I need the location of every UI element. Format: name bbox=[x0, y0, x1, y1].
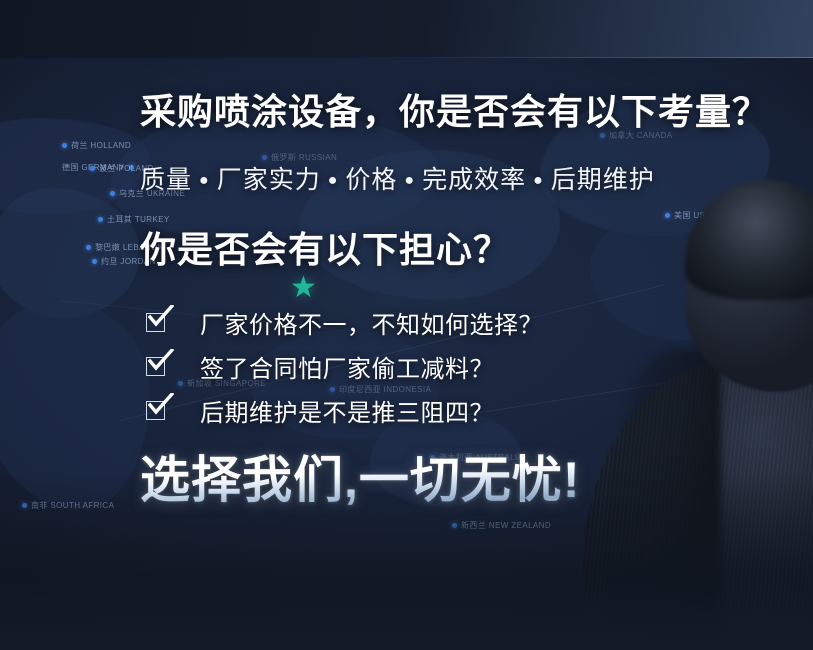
feature-separator: ● bbox=[199, 172, 210, 189]
concern-checklist: 厂家价格不一，不知如何选择？签了合同怕厂家偷工减料？后期维护是不是推三阻四？ bbox=[146, 300, 543, 432]
feature-item: 厂家实力 bbox=[217, 166, 321, 194]
checkbox-icon bbox=[146, 357, 165, 376]
feature-separator: ● bbox=[404, 172, 415, 189]
feature-item: 完成效率 bbox=[422, 166, 526, 194]
closing-headline: 选择我们,一切无忧! bbox=[140, 452, 581, 510]
checklist-item-label: 签了合同怕厂家偷工减料？ bbox=[200, 349, 494, 384]
feature-separator: ● bbox=[533, 172, 544, 189]
feature-list: 质量●厂家实力●价格●完成效率●后期维护 bbox=[140, 160, 655, 196]
feature-item: 价格 bbox=[345, 166, 397, 194]
secondary-heading: 你是否会有以下担心？ bbox=[140, 230, 510, 270]
checklist-item-label: 厂家价格不一，不知如何选择？ bbox=[200, 305, 543, 340]
checkbox-icon bbox=[146, 313, 165, 332]
feature-item: 质量 bbox=[140, 166, 192, 194]
feature-item: 后期维护 bbox=[551, 166, 655, 194]
checklist-item: 厂家价格不一，不知如何选择？ bbox=[146, 300, 543, 344]
promo-banner: 荷兰 HOLLAND德国 GERMANY波兰 POLAND乌克兰 UKRAINE… bbox=[0, 0, 813, 650]
checkbox-icon bbox=[146, 401, 165, 420]
feature-separator: ● bbox=[328, 172, 339, 189]
checklist-item: 后期维护是不是推三阻四？ bbox=[146, 388, 543, 432]
checklist-item: 签了合同怕厂家偷工减料？ bbox=[146, 344, 543, 388]
checklist-item-label: 后期维护是不是推三阻四？ bbox=[200, 393, 494, 428]
primary-heading: 采购喷涂设备，你是否会有以下考量？ bbox=[140, 92, 769, 132]
